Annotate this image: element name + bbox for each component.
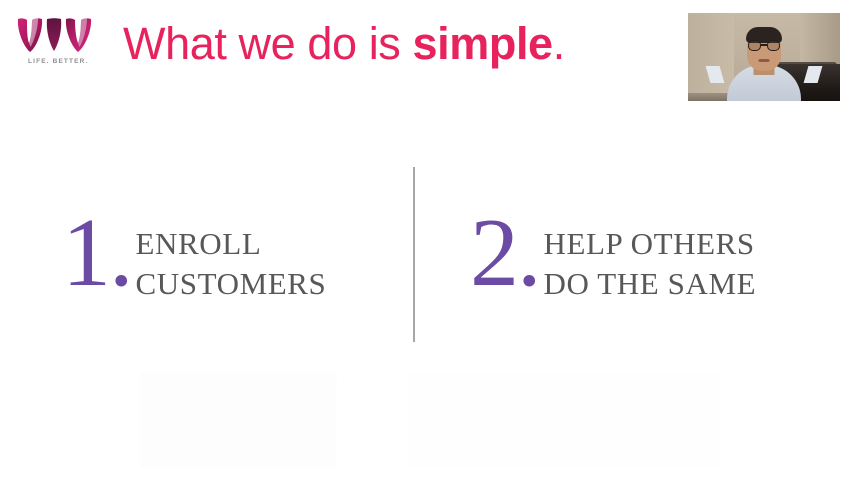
step-2-line-2: DO THE SAME [544, 264, 757, 304]
step-label-1: ENROLL CUSTOMERS [136, 224, 327, 304]
step-label-2: HELP OTHERS DO THE SAME [544, 224, 757, 304]
step-1-line-2: CUSTOMERS [136, 264, 327, 304]
step-item-1: 1. ENROLL CUSTOMERS [62, 207, 326, 304]
step-number-1: 1. [62, 207, 132, 299]
vertical-divider [413, 167, 415, 342]
step-2-line-1: HELP OTHERS [544, 224, 757, 264]
step-1-line-1: ENROLL [136, 224, 327, 264]
step-number-2: 2. [470, 207, 540, 299]
step-item-2: 2. HELP OTHERS DO THE SAME [470, 207, 756, 304]
steps-group: 1. ENROLL CUSTOMERS 2. HELP OTHERS DO TH… [0, 0, 862, 485]
presentation-slide: LIFE. BETTER. What we do is simple. [0, 0, 862, 485]
